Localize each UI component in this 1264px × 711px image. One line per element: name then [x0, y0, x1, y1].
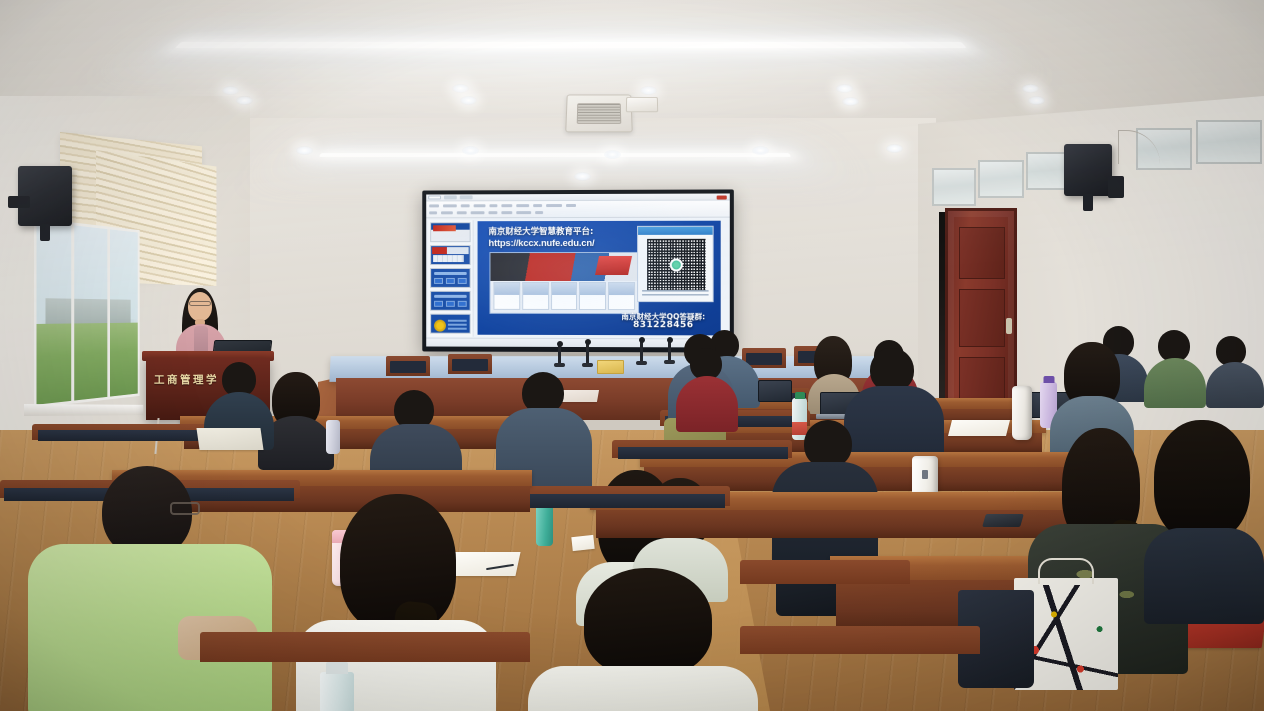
classroom-door[interactable]	[945, 208, 1017, 418]
thermos-button	[922, 470, 928, 479]
ceiling-projector	[626, 97, 658, 112]
tissue-box	[597, 360, 624, 374]
front-chair	[386, 356, 430, 376]
transom-window	[978, 160, 1024, 198]
ceiling-ac-unit	[565, 95, 633, 133]
downlight-icon	[752, 146, 769, 155]
tab-insert[interactable]	[460, 195, 473, 199]
downlight-icon	[462, 146, 479, 155]
folded-jacket	[196, 428, 263, 450]
front-chair	[448, 354, 492, 374]
qr-caption-text	[642, 290, 708, 298]
water-bottle	[320, 672, 354, 711]
projection-screen[interactable]: 南京财经大学智慧教育平台: https://kccx.nufe.edu.cn/	[422, 189, 734, 352]
bottle-cap	[326, 662, 348, 674]
microphone	[640, 340, 643, 362]
platform-screenshot	[489, 252, 639, 314]
qr-panel-header	[638, 227, 713, 235]
ceiling-led-strip-front	[175, 42, 967, 48]
tab-home[interactable]	[444, 195, 457, 199]
downlight-icon	[836, 84, 853, 93]
microphone	[586, 342, 589, 364]
bottle-cap	[795, 392, 805, 399]
ac-grille	[577, 103, 622, 124]
outside-trees	[36, 323, 137, 405]
window-mullion	[107, 229, 110, 397]
wechat-qr-code-icon	[647, 239, 705, 291]
glasses-icon	[170, 502, 200, 515]
screen-display-area: 南京财经大学智慧教育平台: https://kccx.nufe.edu.cn/	[426, 193, 730, 347]
slide-thumbnail[interactable]	[430, 291, 470, 311]
window-mullion	[71, 225, 74, 401]
qr-center-logo-icon	[670, 258, 683, 271]
audience-member	[1144, 420, 1264, 620]
slide-thumbnail[interactable]	[430, 314, 470, 334]
downlight-icon	[460, 96, 477, 105]
window-sill	[24, 404, 143, 416]
person-head	[804, 420, 852, 468]
downlight-icon	[222, 86, 239, 95]
record-button[interactable]	[717, 195, 727, 199]
downlight-icon	[1022, 84, 1039, 93]
person-hair	[584, 568, 712, 676]
screenshot-card-grid	[493, 282, 635, 310]
transom-window	[1196, 120, 1262, 164]
slide-thumbnail[interactable]	[430, 222, 470, 242]
glasses-icon	[189, 301, 211, 306]
door-panel	[959, 289, 1005, 347]
microphone	[558, 344, 561, 364]
audience-member	[1206, 336, 1264, 404]
bench-cushion	[527, 494, 725, 508]
wall-speaker-right	[1064, 144, 1112, 196]
transom-window	[932, 168, 976, 206]
left-window	[34, 218, 140, 408]
person-hair	[1154, 420, 1250, 540]
downlight-icon	[1028, 96, 1045, 105]
person-torso	[676, 376, 738, 432]
notebook	[948, 420, 1010, 436]
foreground-person-green-shirt	[28, 466, 272, 711]
downlight-icon	[640, 86, 657, 95]
current-slide: 南京财经大学智慧教育平台: https://kccx.nufe.edu.cn/	[478, 221, 721, 336]
speaker-bracket	[1108, 176, 1124, 198]
slide-thumbnail-panel[interactable]	[428, 220, 473, 336]
screenshot-hero-banner	[490, 253, 638, 281]
person-torso	[1144, 358, 1206, 408]
downlight-icon	[574, 172, 591, 181]
downlight-icon	[886, 144, 903, 153]
door-panel	[959, 227, 1005, 279]
powerpoint-ribbon	[426, 201, 730, 219]
foreground-person-back	[528, 568, 758, 711]
downlight-icon	[604, 150, 621, 159]
lecture-hall-photo: 南京财经大学智慧教育平台: https://kccx.nufe.edu.cn/	[0, 0, 1264, 711]
bench-foreground	[200, 632, 530, 662]
slide-thumbnail[interactable]	[430, 268, 470, 288]
slide-heading: 南京财经大学智慧教育平台:	[488, 227, 636, 237]
tab-file[interactable]	[428, 195, 441, 199]
audience-member	[676, 348, 738, 428]
bench-foreground	[740, 626, 980, 654]
bench-row-e	[740, 560, 910, 584]
presenter-head	[188, 292, 212, 321]
person-torso	[1206, 362, 1264, 408]
downlight-icon	[452, 84, 469, 93]
bench-cushion	[618, 447, 788, 459]
person-torso	[528, 666, 758, 711]
powerpoint-tab-strip[interactable]	[428, 195, 472, 199]
water-bottle	[326, 420, 340, 454]
downlight-icon	[296, 146, 313, 155]
downlight-icon	[236, 96, 253, 105]
audience-member	[1144, 330, 1206, 402]
door-handle[interactable]	[1006, 318, 1012, 334]
qq-group-info: 南京财经大学QQ答疑群: 831228456	[611, 312, 716, 330]
downlight-icon	[842, 97, 859, 106]
qr-code-panel	[637, 226, 714, 302]
speaker-bracket	[8, 196, 30, 208]
tote-bag-handle[interactable]	[1038, 558, 1094, 584]
qq-group-number: 831228456	[611, 321, 716, 330]
slide-thumbnail[interactable]	[430, 245, 470, 265]
laptop	[758, 380, 792, 402]
ceiling-led-strip-back	[319, 153, 791, 157]
slide-url: https://kccx.nufe.edu.cn/	[488, 238, 646, 249]
person-torso	[1144, 528, 1264, 624]
smartphone	[982, 514, 1024, 527]
